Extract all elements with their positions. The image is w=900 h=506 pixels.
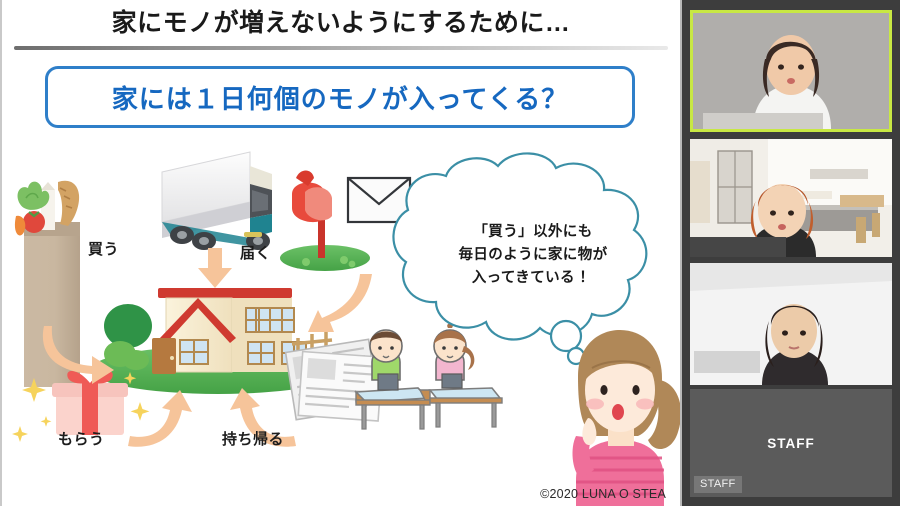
question-callout-box: 家には１日何個のモノが入ってくる？ xyxy=(45,66,635,128)
staff-name-badge: STAFF xyxy=(694,476,742,493)
participant-video-rail: STAFF STAFF xyxy=(682,0,900,506)
video-tile-participant-3[interactable] xyxy=(690,263,892,385)
newspaper-icon xyxy=(286,339,383,421)
meeting-screen-share-view: 家にモノが増えないようにするために… 家には１日何個のモノが入ってくる？ xyxy=(0,0,900,506)
title-underline-rule xyxy=(14,46,668,50)
thought-bubble-text: 「買う」以外にも 毎日のように家に物が 入ってきている ！ xyxy=(418,221,648,290)
thinking-woman-illustration xyxy=(573,330,682,506)
delivery-truck-icon xyxy=(162,152,272,250)
flow-diagram: 買う 届く もらう 持ち帰る 「買う」以外にも 毎日のように家に物が 入ってきて… xyxy=(0,140,682,506)
copyright-notice: ©2020 LUNA O STEA xyxy=(540,487,666,501)
label-receive: もらう xyxy=(58,428,105,449)
video-tile-participant-4-staff[interactable]: STAFF STAFF xyxy=(690,389,892,497)
label-bring-home: 持ち帰る xyxy=(222,428,284,449)
label-deliver: 届く xyxy=(240,242,271,263)
video-tile-participant-1[interactable] xyxy=(690,10,892,132)
participant-1-video xyxy=(693,13,889,129)
label-buy: 買う xyxy=(88,238,119,259)
shared-slide: 家にモノが増えないようにするために… 家には１日何個のモノが入ってくる？ xyxy=(0,0,682,506)
bubble-line-3: 入ってきている ！ xyxy=(418,267,648,290)
grocery-bag-icon xyxy=(15,181,80,387)
diagram-illustration xyxy=(0,140,682,506)
participant-2-video xyxy=(690,139,892,257)
slide-title: 家にモノが増えないようにするために… xyxy=(0,6,682,40)
participant-3-video xyxy=(690,263,892,385)
video-tile-participant-2[interactable] xyxy=(690,139,892,257)
bubble-line-1: 「買う」以外にも xyxy=(418,221,648,244)
bubble-line-2: 毎日のように家に物が xyxy=(418,244,648,267)
question-text: 家には１日何個のモノが入ってくる？ xyxy=(48,69,632,125)
